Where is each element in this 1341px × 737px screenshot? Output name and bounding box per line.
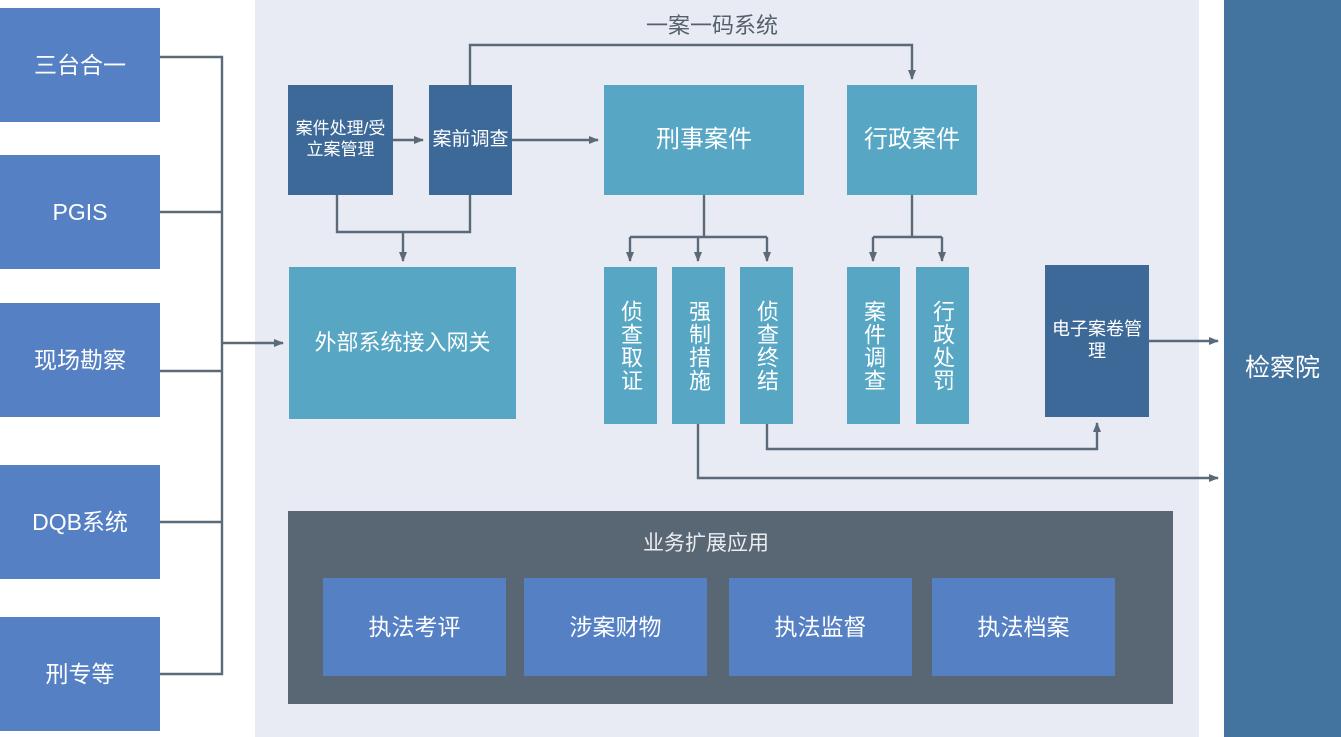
destination-box-procuratorate[interactable]: 检察院: [1224, 0, 1341, 737]
administrative-step-label: 行政处罚: [929, 267, 956, 424]
source-box-santaiheyi[interactable]: 三台合一: [0, 8, 160, 122]
criminal-step-box-qiangzhicuoshi[interactable]: 强制措施: [672, 267, 725, 424]
criminal-step-box-zhenchazhongjie[interactable]: 侦查终结: [740, 267, 793, 424]
case-handling-label: 案件处理/受立案管理: [288, 119, 393, 160]
link-source-xingzhuandeng: [160, 343, 222, 674]
administrative-case-label: 行政案件: [847, 125, 977, 154]
source-label: DQB系统: [0, 508, 160, 536]
expansion-app-label: 执法监督: [729, 613, 912, 641]
criminal-step-label: 侦查终结: [753, 267, 780, 424]
expansion-app-zhifajiandu[interactable]: 执法监督: [729, 578, 912, 676]
expansion-app-zhifadangan[interactable]: 执法档案: [932, 578, 1115, 676]
source-label: 刑专等: [0, 660, 160, 688]
administrative-step-box-xingzhengchufa[interactable]: 行政处罚: [916, 267, 969, 424]
criminal-step-label: 强制措施: [685, 267, 712, 424]
administrative-step-box-anjiandiaocha[interactable]: 案件调查: [847, 267, 900, 424]
link-source-santaiheyi: [160, 57, 222, 343]
electronic-archive-label: 电子案卷管理: [1045, 319, 1149, 363]
case-handling-box[interactable]: 案件处理/受立案管理: [288, 85, 393, 195]
expansion-app-zhifakaoping[interactable]: 执法考评: [323, 578, 506, 676]
criminal-case-box[interactable]: 刑事案件: [604, 85, 804, 195]
criminal-step-label: 侦查取证: [617, 267, 644, 424]
source-box-xingzhuandeng[interactable]: 刑专等: [0, 617, 160, 731]
diagram-canvas: 三台合一 PGIS 现场勘察 DQB系统 刑专等 一案一码系统 案件处理/受立案…: [0, 0, 1341, 737]
external-gateway-label: 外部系统接入网关: [289, 330, 516, 357]
administrative-step-label: 案件调查: [860, 267, 887, 424]
pre-case-investigation-label: 案前调查: [429, 128, 512, 151]
destination-label: 检察院: [1224, 353, 1341, 384]
external-gateway-box[interactable]: 外部系统接入网关: [289, 267, 516, 419]
expansion-app-label: 执法考评: [323, 613, 506, 641]
source-label: PGIS: [0, 198, 160, 226]
expansion-panel-title: 业务扩展应用: [643, 527, 769, 557]
source-box-dqb[interactable]: DQB系统: [0, 465, 160, 579]
electronic-archive-box[interactable]: 电子案卷管理: [1045, 265, 1149, 417]
criminal-step-box-zhenchaquzheng[interactable]: 侦查取证: [604, 267, 657, 424]
expansion-app-sheancaiwu[interactable]: 涉案财物: [524, 578, 707, 676]
administrative-case-box[interactable]: 行政案件: [847, 85, 977, 195]
expansion-app-label: 执法档案: [932, 613, 1115, 641]
pre-case-investigation-box[interactable]: 案前调查: [429, 85, 512, 195]
criminal-case-label: 刑事案件: [604, 125, 804, 154]
source-box-pgis[interactable]: PGIS: [0, 155, 160, 269]
source-label: 三台合一: [0, 51, 160, 79]
source-box-xianchangkancha[interactable]: 现场勘察: [0, 303, 160, 417]
system-title: 一案一码系统: [646, 8, 778, 40]
source-label: 现场勘察: [0, 346, 160, 374]
expansion-app-label: 涉案财物: [524, 613, 707, 641]
